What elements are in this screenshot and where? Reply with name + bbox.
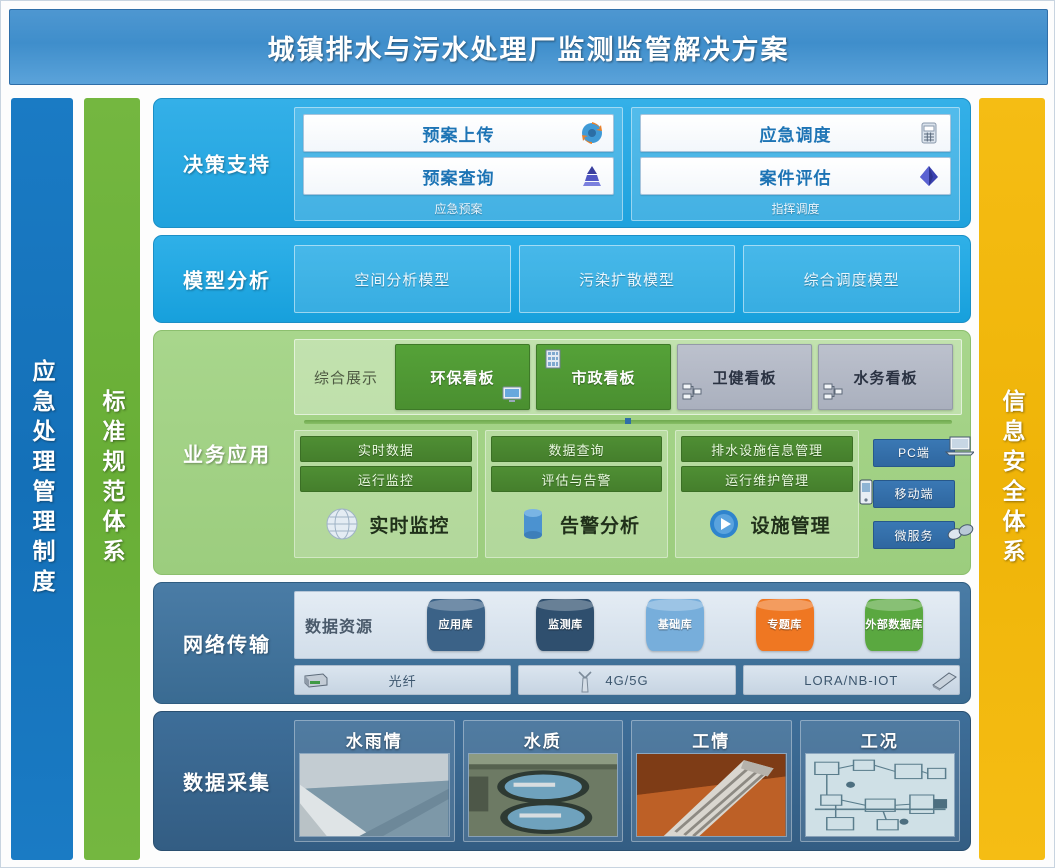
- sidebar-emergency-label: 应急处理管理制度: [25, 359, 59, 599]
- business-column-alarm: 数据查询 评估与告警 告警分析: [485, 430, 669, 558]
- collection-card-working-condition[interactable]: 工况: [800, 720, 961, 842]
- layer-network-transmission-label: 网络传输: [168, 629, 286, 658]
- transport-4g5g-label: 4G/5G: [605, 673, 648, 688]
- laptop-icon: [944, 434, 970, 456]
- transport-fiber-label: 光纤: [389, 671, 417, 690]
- business-button-assess-alarm[interactable]: 评估与告警: [491, 466, 663, 492]
- business-column-facility: 排水设施信息管理 运行维护管理 设施管理: [675, 430, 859, 558]
- decision-group-emergency-plan-name: 应急预案: [303, 200, 614, 218]
- device-button-microservice-label: 微服务: [895, 527, 934, 544]
- calculator-icon: [916, 120, 942, 146]
- dashboard-row: 综合展示 环保看板 市政看板: [294, 339, 962, 415]
- layer-data-collection: 数据采集 水雨情: [153, 711, 971, 851]
- transport-4g5g[interactable]: 4G/5G: [518, 665, 735, 695]
- data-resource-label: 数据资源: [305, 613, 401, 637]
- diamond-icon: [916, 163, 942, 189]
- layer-decision-support-label: 决策支持: [168, 149, 286, 178]
- transport-lora-nbiot-label: LORA/NB-IOT: [804, 673, 898, 688]
- decision-item-emergency-dispatch[interactable]: 应急调度: [640, 114, 951, 152]
- layer-network-transmission: 网络传输 数据资源 应用库 监测库 基础库 专题库 外部数据库: [153, 582, 971, 704]
- decision-item-plan-query[interactable]: 预案查询: [303, 157, 614, 195]
- refresh-cycle-icon: [579, 120, 605, 146]
- business-column-realtime: 实时数据 运行监控 实时监控: [294, 430, 478, 558]
- device-chain-icon: [946, 520, 972, 542]
- dashboard-card-water-affairs-label: 水务看板: [853, 367, 917, 388]
- business-feature-alarm-analysis[interactable]: 告警分析: [491, 496, 663, 552]
- database-external[interactable]: 外部数据库: [865, 599, 923, 651]
- transport-row: 光纤 4G/5G LORA/NB-IOT: [294, 665, 960, 695]
- device-button-pc-label: PC端: [898, 444, 930, 461]
- layer-stack: 决策支持 预案上传: [153, 98, 971, 860]
- database-thematic[interactable]: 专题库: [756, 599, 814, 651]
- page-title: 城镇排水与污水处理厂监测监管解决方案: [268, 28, 790, 67]
- database-monitoring[interactable]: 监测库: [536, 599, 594, 651]
- layer-model-analysis-label: 模型分析: [168, 265, 286, 294]
- business-feature-realtime-monitor[interactable]: 实时监控: [300, 496, 472, 552]
- business-feature-realtime-monitor-label: 实时监控: [369, 511, 449, 538]
- device-button-mobile-label: 移动端: [895, 485, 934, 502]
- dashboard-card-health[interactable]: 卫健看板: [677, 344, 812, 410]
- decision-item-plan-upload[interactable]: 预案上传: [303, 114, 614, 152]
- collection-card-water-rain-label: 水雨情: [299, 725, 450, 753]
- sidebar-security-label: 信息安全体系: [995, 389, 1029, 569]
- business-feature-alarm-analysis-label: 告警分析: [560, 511, 640, 538]
- globe-icon: [322, 504, 362, 544]
- solution-architecture-diagram: 城镇排水与污水处理厂监测监管解决方案 应急处理管理制度 标准规范体系 信息安全体…: [0, 0, 1055, 868]
- decision-item-plan-upload-label: 预案上传: [423, 121, 495, 146]
- decision-item-emergency-dispatch-label: 应急调度: [760, 121, 832, 146]
- decision-item-case-assessment[interactable]: 案件评估: [640, 157, 951, 195]
- dashboard-card-environment[interactable]: 环保看板: [395, 344, 530, 410]
- sensor-module-icon: [929, 670, 957, 690]
- fiber-device-icon: [301, 670, 329, 690]
- model-box-pollution-diffusion[interactable]: 污染扩散模型: [519, 245, 736, 313]
- business-device-column: PC端 移动端: [866, 430, 962, 558]
- layer-model-analysis: 模型分析 空间分析模型 污染扩散模型 综合调度模型: [153, 235, 971, 323]
- sidebar-standard-specification-system: 标准规范体系: [84, 98, 140, 860]
- decision-group-command-dispatch: 应急调度: [631, 107, 960, 221]
- dashboard-card-municipal[interactable]: 市政看板: [536, 344, 671, 410]
- dashboard-card-municipal-label: 市政看板: [571, 367, 635, 388]
- decision-group-command-dispatch-name: 指挥调度: [640, 200, 951, 218]
- dashboard-row-label: 综合展示: [303, 367, 389, 388]
- sedimentation-tanks-photo: [468, 753, 619, 837]
- business-button-data-query[interactable]: 数据查询: [491, 436, 663, 462]
- network-node-icon: [823, 383, 845, 405]
- collection-card-water-quality-label: 水质: [468, 725, 619, 753]
- transport-fiber[interactable]: 光纤: [294, 665, 511, 695]
- transport-lora-nbiot[interactable]: LORA/NB-IOT: [743, 665, 960, 695]
- dashboard-card-water-affairs[interactable]: 水务看板: [818, 344, 953, 410]
- device-button-pc[interactable]: PC端: [873, 439, 955, 467]
- decision-item-plan-query-label: 预案查询: [423, 164, 495, 189]
- river-channel-photo: [299, 753, 450, 837]
- antenna-tower-icon: [575, 670, 603, 690]
- business-button-realtime-data[interactable]: 实时数据: [300, 436, 472, 462]
- sidebar-standard-label: 标准规范体系: [95, 389, 129, 569]
- database-icon: [513, 504, 553, 544]
- collection-card-working-condition-label: 工况: [805, 725, 956, 753]
- business-button-drainage-facility-info[interactable]: 排水设施信息管理: [681, 436, 853, 462]
- device-button-microservice[interactable]: 微服务: [873, 521, 955, 549]
- network-node-icon: [682, 383, 704, 405]
- business-divider: [304, 420, 952, 424]
- pyramid-chart-icon: [579, 163, 605, 189]
- decision-item-case-assessment-label: 案件评估: [760, 164, 832, 189]
- model-box-spatial[interactable]: 空间分析模型: [294, 245, 511, 313]
- dashboard-card-health-label: 卫健看板: [712, 367, 776, 388]
- play-circle-icon: [704, 504, 744, 544]
- monitor-icon: [501, 383, 523, 405]
- database-basic[interactable]: 基础库: [646, 599, 704, 651]
- layer-business-application-label: 业务应用: [168, 438, 286, 467]
- collection-card-water-quality[interactable]: 水质: [463, 720, 624, 842]
- pipeline-trench-photo: [636, 753, 787, 837]
- building-icon: [543, 348, 565, 370]
- dashboard-card-environment-label: 环保看板: [430, 367, 494, 388]
- layer-data-collection-label: 数据采集: [168, 767, 286, 796]
- collection-card-water-rain[interactable]: 水雨情: [294, 720, 455, 842]
- scada-schematic-photo: [805, 753, 956, 837]
- decision-group-emergency-plan: 预案上传 预案查询: [294, 107, 623, 221]
- mobile-phone-icon: [856, 478, 882, 500]
- business-button-operation-maintenance[interactable]: 运行维护管理: [681, 466, 853, 492]
- layer-decision-support: 决策支持 预案上传: [153, 98, 971, 228]
- collection-card-engineering-label: 工情: [636, 725, 787, 753]
- page-title-bar: 城镇排水与污水处理厂监测监管解决方案: [9, 9, 1048, 85]
- business-columns: 实时数据 运行监控 实时监控: [294, 430, 962, 558]
- layer-business-application: 业务应用 综合展示 环保看板: [153, 330, 971, 575]
- business-button-operation-monitor[interactable]: 运行监控: [300, 466, 472, 492]
- model-box-integrated-dispatch[interactable]: 综合调度模型: [743, 245, 960, 313]
- collection-card-engineering[interactable]: 工情: [631, 720, 792, 842]
- sidebar-information-security-system: 信息安全体系: [979, 98, 1045, 860]
- database-application[interactable]: 应用库: [427, 599, 485, 651]
- sidebar-emergency-management-system: 应急处理管理制度: [11, 98, 73, 860]
- data-resource-row: 数据资源 应用库 监测库 基础库 专题库 外部数据库: [294, 591, 960, 659]
- device-button-mobile[interactable]: 移动端: [873, 480, 955, 508]
- business-feature-facility-management[interactable]: 设施管理: [681, 496, 853, 552]
- business-feature-facility-management-label: 设施管理: [751, 511, 831, 538]
